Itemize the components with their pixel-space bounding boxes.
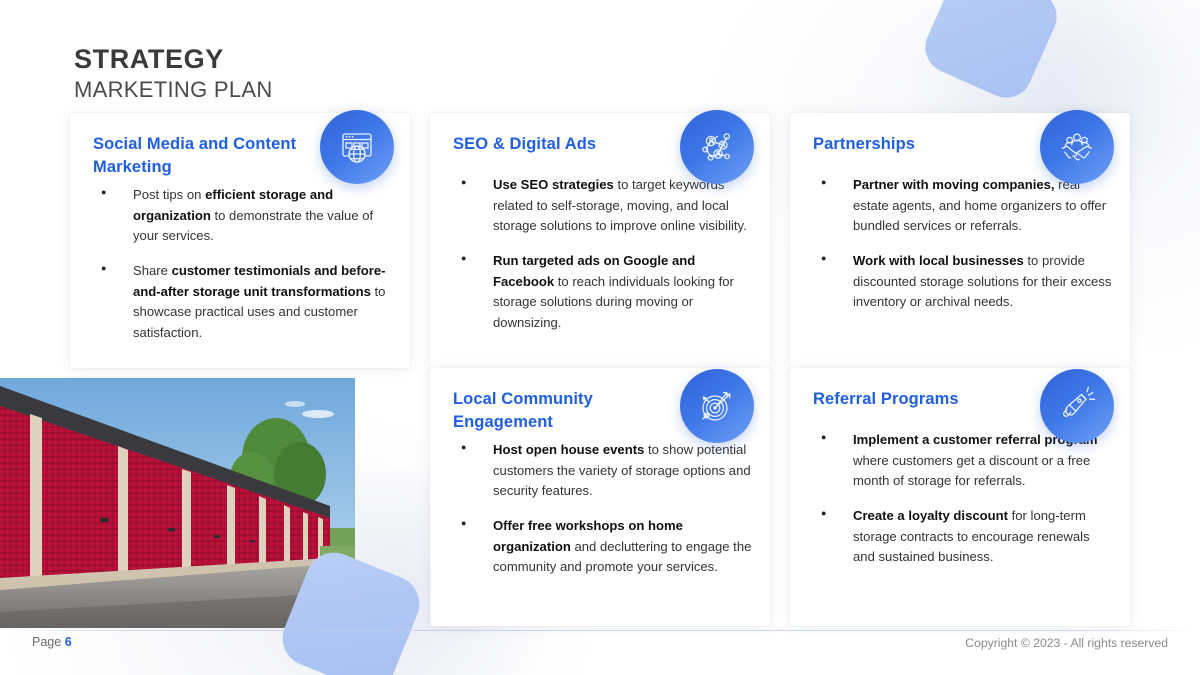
bullet-item: Host open house events to show potential… [453,440,754,502]
bullet-item: Use SEO strategies to target keywords re… [453,175,754,237]
card-bullet-list: Host open house events to show potential… [453,440,754,578]
bullet-item: Run targeted ads on Google and Facebook … [453,251,754,334]
bullet-item: Create a loyalty discount for long-term … [813,506,1114,568]
network-nodes-icon [680,110,754,184]
card-bullet-list: Post tips on efficient storage and organ… [93,185,394,344]
slide-canvas: STRATEGY MARKETING PLAN [0,0,1200,675]
megaphone-icon [1040,369,1114,443]
target-arrows-icon [680,369,754,443]
bullet-item: Offer free workshops on home organizatio… [453,516,754,578]
card-bullet-list: Partner with moving companies, real esta… [813,175,1114,313]
card-bullet-list: Use SEO strategies to target keywords re… [453,175,754,334]
page-indicator: Page 6 [32,635,72,649]
card-heading: Referral Programs [813,388,1052,411]
page-number: 6 [65,635,72,649]
bullet-item: Share customer testimonials and before-a… [93,261,394,344]
copyright-text: Copyright © 2023 - All rights reserved [965,636,1168,650]
page-title: STRATEGY [74,44,273,74]
card-heading: SEO & Digital Ads [453,133,692,156]
bullet-item: Post tips on efficient storage and organ… [93,185,394,247]
card-heading: Local Community Engagement [453,388,692,434]
page-subtitle: MARKETING PLAN [74,77,273,103]
footer-divider [0,630,1200,631]
storage-units-photo [0,378,355,628]
decorative-rounded-square-top [917,0,1065,106]
card-heading: Social Media and Content Marketing [93,133,332,179]
browser-globe-icon [320,110,394,184]
slide-header: STRATEGY MARKETING PLAN [74,44,273,104]
page-label: Page [32,635,61,649]
card-bullet-list: Implement a customer referral program wh… [813,430,1114,568]
handshake-people-icon [1040,110,1114,184]
bullet-item: Work with local businesses to provide di… [813,251,1114,313]
card-heading: Partnerships [813,133,1052,156]
bullet-item: Partner with moving companies, real esta… [813,175,1114,237]
